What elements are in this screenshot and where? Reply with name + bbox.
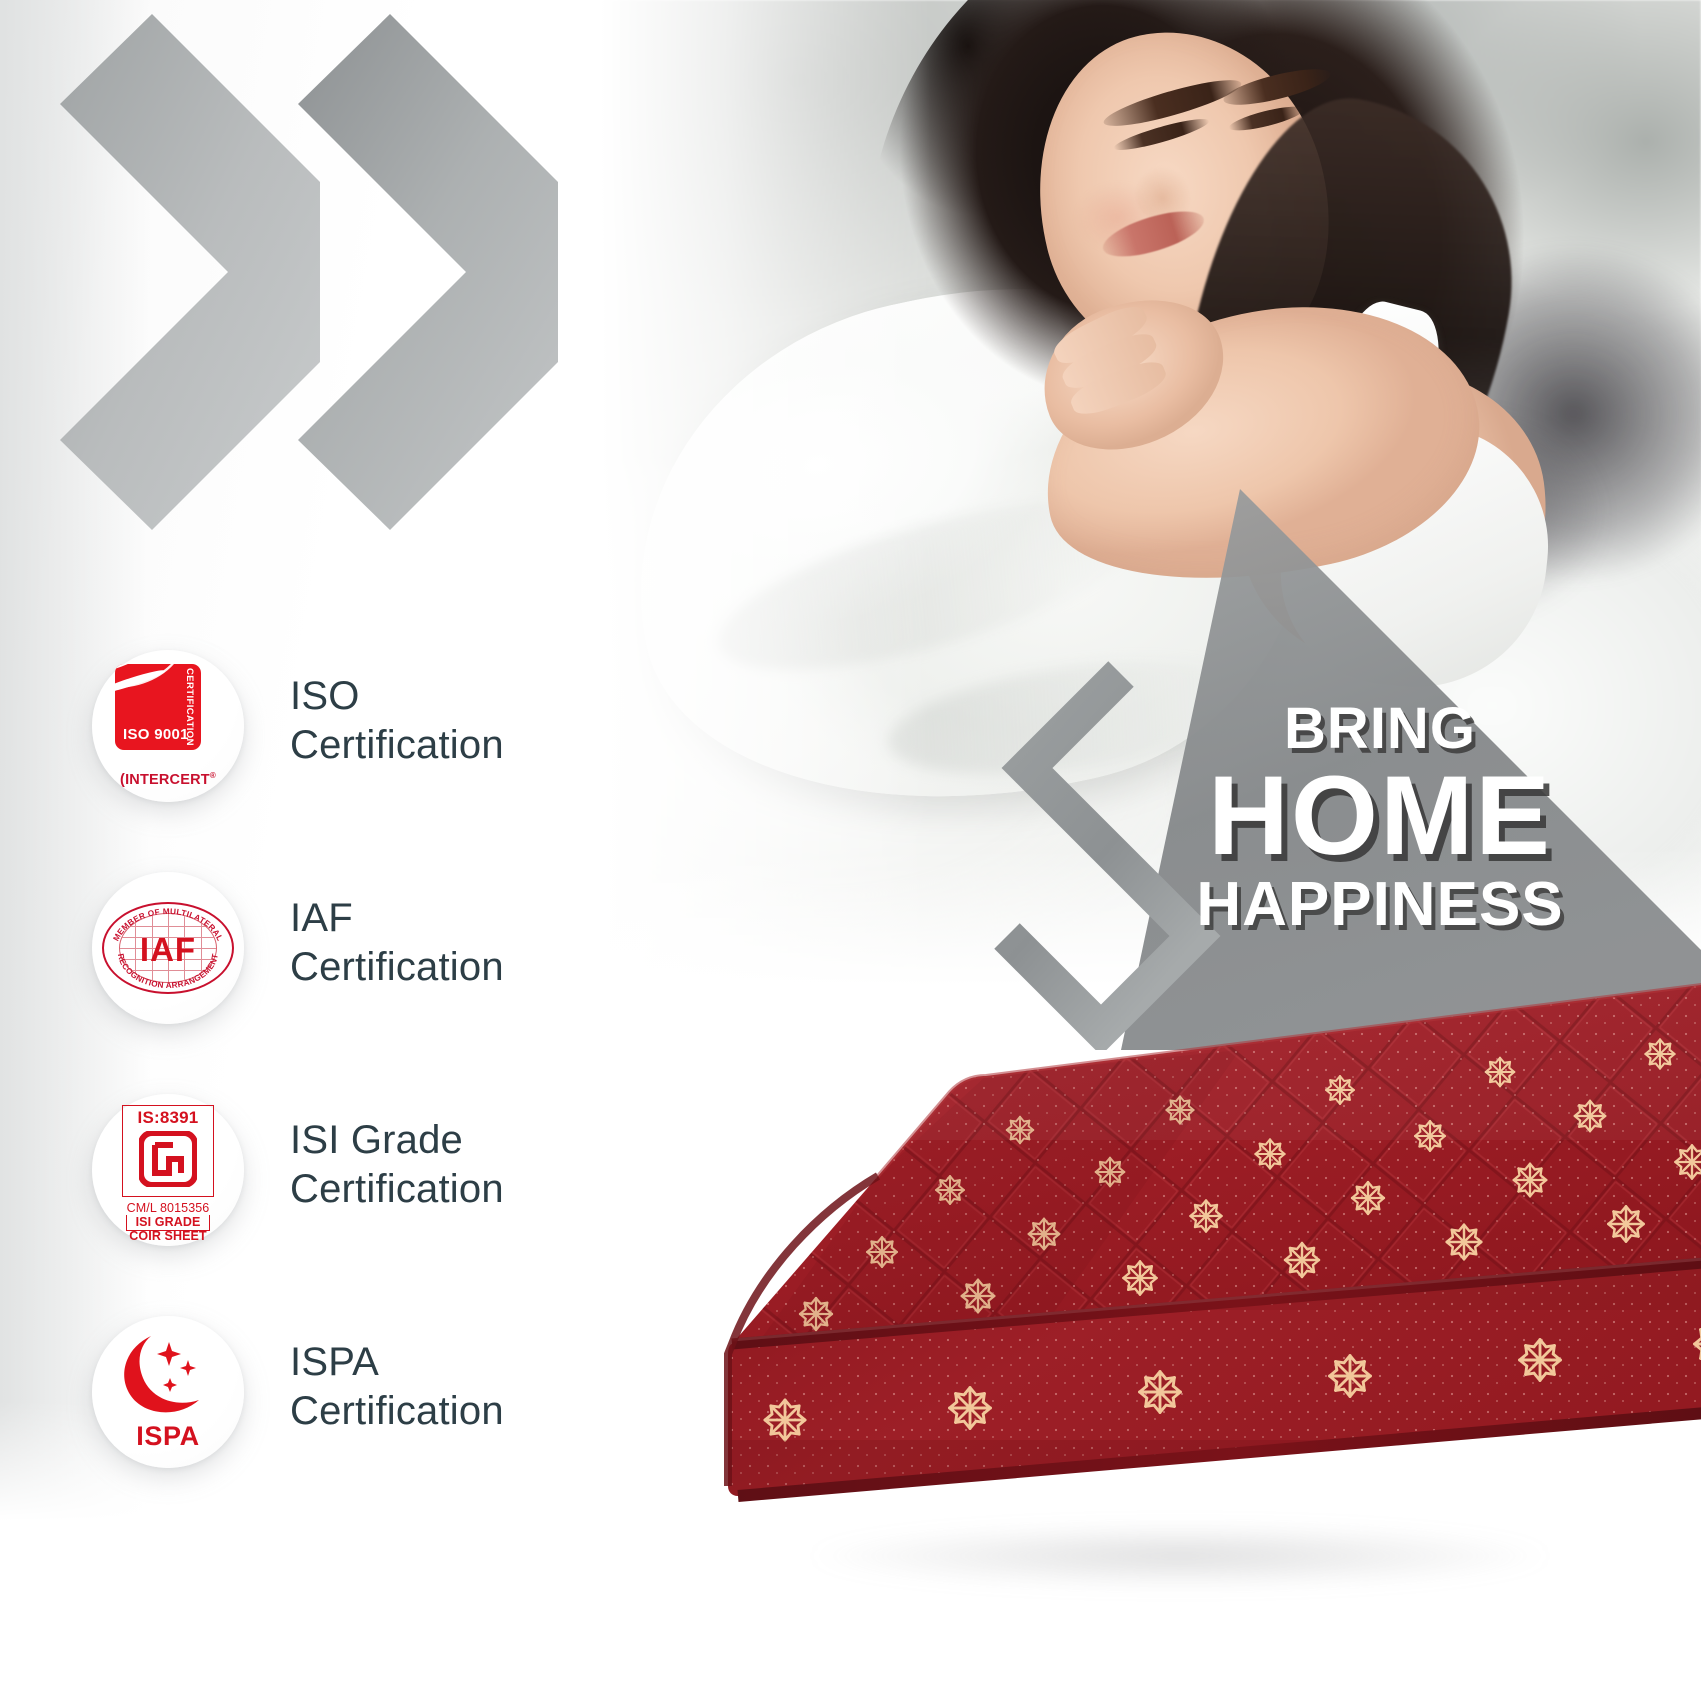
headline-line-1: BRING	[1120, 700, 1640, 758]
headline-line-2: HOME	[1120, 760, 1640, 872]
certification-label: ISPA Certification	[290, 1338, 504, 1436]
certification-label: ISI Grade Certification	[290, 1116, 504, 1214]
ispa-badge-acronym: ISPA	[109, 1421, 227, 1452]
isi-grade-line-2: COIR SHEET	[116, 1229, 220, 1243]
certification-label: IAF Certification	[290, 894, 504, 992]
iso-badge-box: CERTIFICATION ISO 9001	[115, 664, 201, 750]
iso-9001-certification-badge: CERTIFICATION ISO 9001 (INTERCERT®	[92, 650, 244, 802]
poster-canvas: BRING HOME HAPPINESS CERTIFICATION ISO 9…	[0, 0, 1701, 1701]
certification-list: CERTIFICATION ISO 9001 (INTERCERT® ISO C…	[92, 650, 612, 1538]
certification-label-line-1: ISI Grade	[290, 1116, 504, 1165]
certification-label-line-2: Certification	[290, 943, 504, 992]
list-item: CERTIFICATION ISO 9001 (INTERCERT® ISO C…	[92, 650, 612, 872]
headline-line-3: HAPPINESS	[1120, 874, 1640, 936]
isi-badge-standard: IS:8391	[116, 1108, 220, 1128]
iaf-badge-acronym: IAF	[102, 933, 234, 966]
isi-badge-license: CM/L 8015356	[116, 1201, 220, 1215]
iso-badge-issuer: (INTERCERT®	[109, 771, 227, 788]
certification-label-line-2: Certification	[290, 721, 504, 770]
quilted-coir-mattress	[620, 940, 1701, 1580]
certification-label-line-1: IAF	[290, 894, 504, 943]
crescent-moon-with-stars-icon	[117, 1332, 213, 1416]
isi-grade-line-1: ISI GRADE	[116, 1215, 220, 1229]
certification-label-line-2: Certification	[290, 1387, 504, 1436]
iso-badge-standard: ISO 9001	[123, 726, 189, 743]
list-item: MEMBER OF MULTILATERAL RECOGNITION ARRAN…	[92, 872, 612, 1094]
certification-label-line-1: ISO	[290, 672, 504, 721]
isi-grade-certification-badge: IS:8391 CM/L 8015356 ISI GRADE COIR SHEE…	[92, 1094, 244, 1246]
ispa-certification-badge: ISPA	[92, 1316, 244, 1468]
decorative-chevron-top-left	[0, 0, 680, 560]
iso-issuer-name: INTERCERT	[125, 772, 210, 788]
iaf-certification-badge: MEMBER OF MULTILATERAL RECOGNITION ARRAN…	[92, 872, 244, 1024]
headline-block: BRING HOME HAPPINESS	[1120, 700, 1640, 936]
certification-label-line-2: Certification	[290, 1165, 504, 1214]
isi-badge-grade: ISI GRADE COIR SHEET	[116, 1215, 220, 1243]
list-item: IS:8391 CM/L 8015356 ISI GRADE COIR SHEE…	[92, 1094, 612, 1316]
certification-label: ISO Certification	[290, 672, 504, 770]
list-item: ISPA ISPA Certification	[92, 1316, 612, 1538]
iso-issuer-mark: ®	[210, 771, 216, 780]
isi-mark-icon	[139, 1131, 197, 1187]
certification-label-line-1: ISPA	[290, 1338, 504, 1387]
